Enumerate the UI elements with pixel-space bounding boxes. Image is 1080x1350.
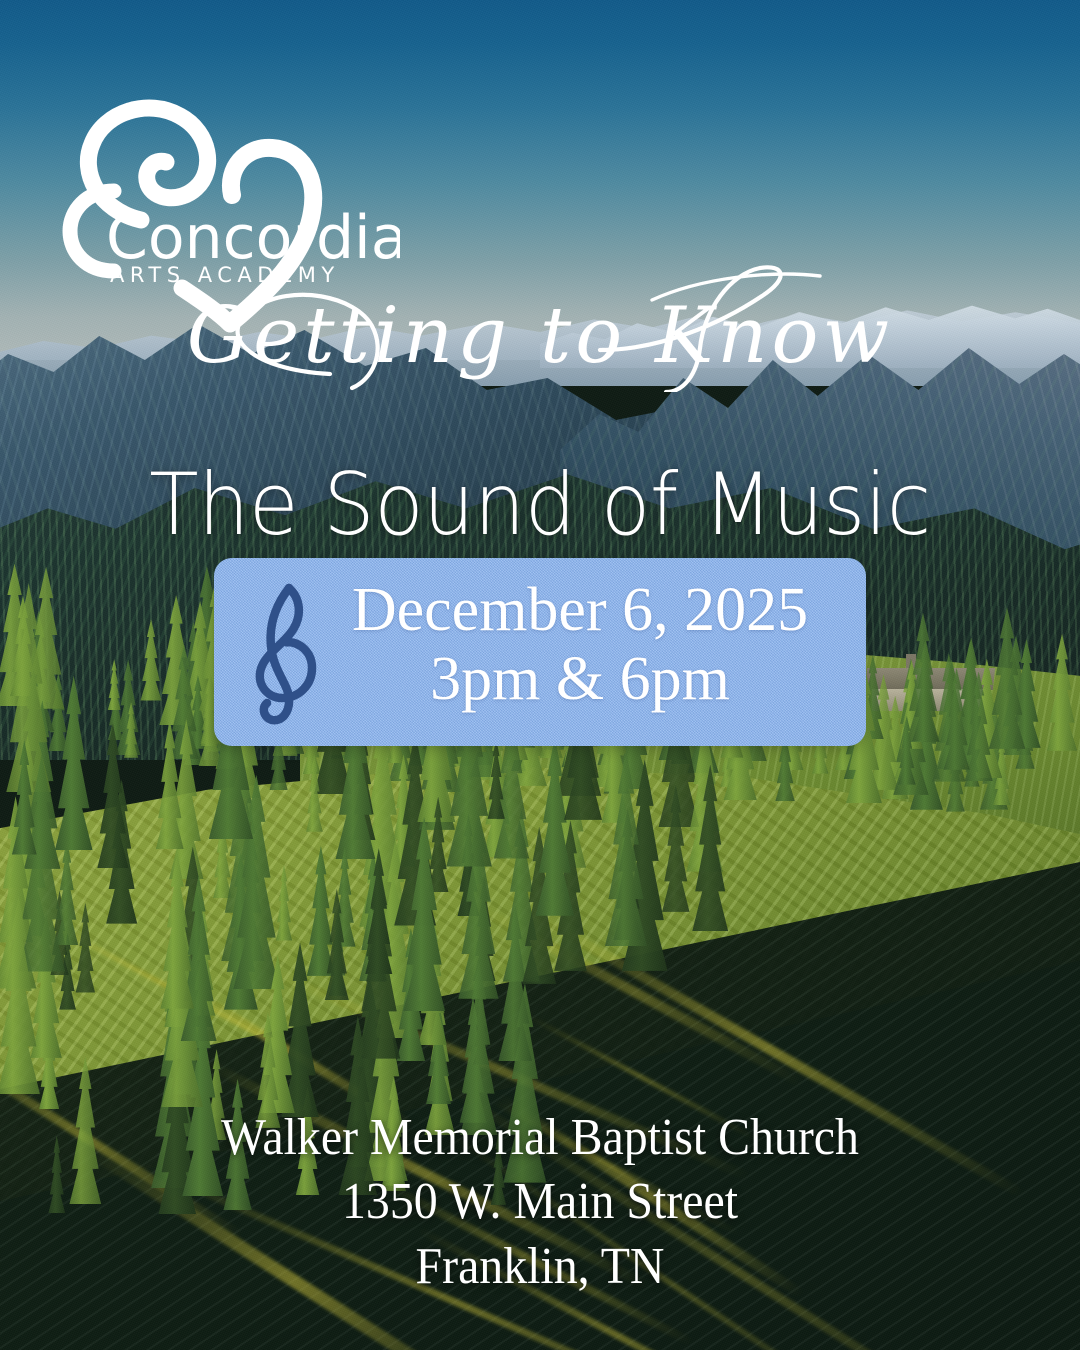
- event-poster: Concordia ARTS ACADEMY Getting to Know T…: [0, 0, 1080, 1350]
- date-banner: December 6, 2025 3pm & 6pm: [214, 558, 866, 746]
- venue-street: 1350 W. Main Street: [43, 1170, 1037, 1234]
- event-date: December 6, 2025: [352, 576, 808, 644]
- eyebrow-text: Getting to Know: [187, 291, 893, 381]
- venue-block: Walker Memorial Baptist Church 1350 W. M…: [43, 1106, 1037, 1299]
- banner-text-block: December 6, 2025 3pm & 6pm: [310, 576, 850, 715]
- page-title: The Sound of Music: [32, 462, 1047, 550]
- getting-to-know-script: Getting to Know: [0, 252, 1080, 392]
- eyebrow-script: Getting to Know: [0, 252, 1080, 392]
- clef-dot: [282, 637, 291, 646]
- poster-content: Concordia ARTS ACADEMY Getting to Know T…: [0, 0, 1080, 1350]
- event-times: 3pm & 6pm: [310, 645, 850, 714]
- venue-name: Walker Memorial Baptist Church: [43, 1106, 1037, 1170]
- venue-city-state: Franklin, TN: [43, 1235, 1037, 1299]
